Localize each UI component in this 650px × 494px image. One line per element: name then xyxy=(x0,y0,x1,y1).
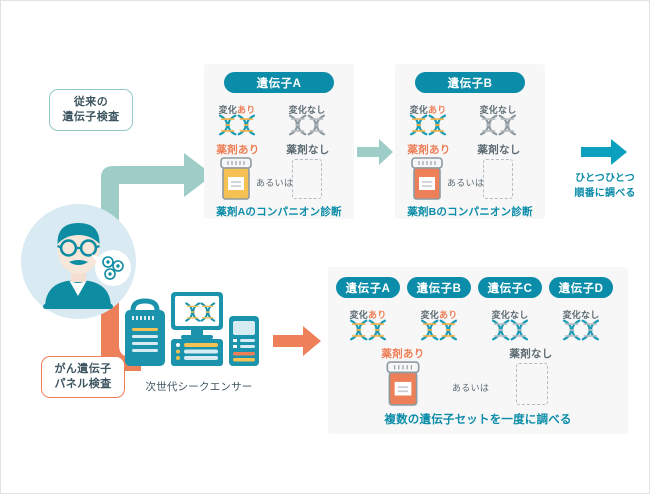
dna-icon-mutated-multi-b xyxy=(419,319,459,341)
gene-chip-multi-a: 遺伝子A xyxy=(336,277,400,298)
label-panel-test: がん遺伝子 パネル検査 xyxy=(41,356,125,398)
panel-caption-a: 薬剤Aのコンパニオン診断 xyxy=(204,204,354,219)
gene-chip-a: 遺伝子A xyxy=(224,72,334,93)
gene-chip-multi-d: 遺伝子D xyxy=(549,277,613,298)
diagram-canvas: 従来の 遺伝子検査 がん遺伝子 パネル検査 xyxy=(0,0,650,494)
dna-icon-mutated-a xyxy=(217,114,257,136)
label-conventional-line1: 従来の xyxy=(74,95,108,110)
gene-chip-b: 遺伝子B xyxy=(415,72,525,93)
or-label-b: あるいは xyxy=(447,176,484,189)
dna-icon-normal-a xyxy=(287,114,327,136)
drug-yes-label-a: 薬剤あり xyxy=(210,142,266,157)
sequencer-caption: 次世代シークエンサー xyxy=(119,379,279,394)
dna-icon-normal-b xyxy=(478,114,518,136)
dna-icon-mutated-multi-a xyxy=(348,319,388,341)
pill-bottle-empty-a xyxy=(292,159,322,199)
result-text: ひとつひとつ 順番に調べる xyxy=(559,171,650,201)
sequencer-icon xyxy=(123,286,263,379)
or-label-a: あるいは xyxy=(256,176,293,189)
dna-icon-mutated-b xyxy=(408,114,448,136)
or-label-multi: あるいは xyxy=(452,381,489,394)
pill-bottle-empty-multi xyxy=(516,363,548,405)
pill-bottle-b xyxy=(410,157,444,201)
result-text-line1: ひとつひとつ xyxy=(559,171,650,186)
pill-bottle-multi xyxy=(385,361,421,407)
arrow-to-multi-panel xyxy=(273,326,321,356)
drug-yes-label-b: 薬剤あり xyxy=(401,142,457,157)
drug-no-label-a: 薬剤なし xyxy=(280,142,336,157)
gene-chip-multi-c: 遺伝子C xyxy=(478,277,542,298)
arrow-a-to-b xyxy=(357,139,393,165)
label-panel-line1: がん遺伝子 xyxy=(55,362,112,377)
panel-caption-multi: 複数の遺伝子セットを一度に調べる xyxy=(328,411,628,427)
label-panel-line2: パネル検査 xyxy=(55,377,112,392)
result-text-line2: 順番に調べる xyxy=(559,186,650,201)
pill-bottle-empty-b xyxy=(483,159,513,199)
drug-no-label-multi: 薬剤なし xyxy=(501,346,561,361)
label-conventional-test: 従来の 遺伝子検査 xyxy=(49,89,133,131)
panel-caption-b: 薬剤Bのコンパニオン診断 xyxy=(395,204,545,219)
gene-chip-multi-b: 遺伝子B xyxy=(407,277,471,298)
drug-yes-label-multi: 薬剤あり xyxy=(373,346,433,361)
drug-no-label-b: 薬剤なし xyxy=(471,142,527,157)
pill-bottle-a xyxy=(219,157,253,201)
arrow-to-result xyxy=(581,139,627,165)
dna-icon-normal-multi-c xyxy=(490,319,530,341)
patient-avatar xyxy=(21,204,136,319)
dna-icon-normal-multi-d xyxy=(561,319,601,341)
label-conventional-line2: 遺伝子検査 xyxy=(63,110,120,125)
